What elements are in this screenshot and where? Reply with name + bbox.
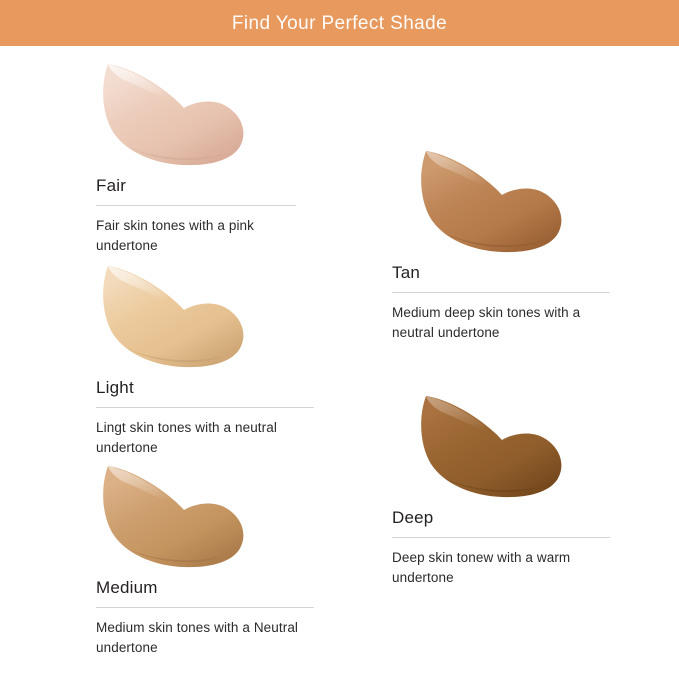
shade-card-tan[interactable]: Tan Medium deep skin tones with a neutra…: [392, 145, 622, 343]
shade-card-light[interactable]: Light Lingt skin tones with a neutral un…: [96, 260, 326, 458]
shade-divider-medium: [96, 607, 314, 608]
foundation-swatch-icon: [96, 58, 256, 170]
swatch-medium: [96, 460, 256, 572]
shade-description-deep: Deep skin tonew with a warm undertone: [392, 548, 614, 587]
shade-guide-grid: Fair Fair skin tones with a pink underto…: [0, 46, 679, 679]
shade-description-fair: Fair skin tones with a pink undertone: [96, 216, 318, 255]
swatch-deep: [414, 390, 574, 502]
swatch-light: [96, 260, 256, 372]
shade-divider-fair: [96, 205, 296, 206]
foundation-swatch-icon: [414, 145, 574, 257]
swatch-tan: [414, 145, 574, 257]
shade-card-medium[interactable]: Medium Medium skin tones with a Neutral …: [96, 460, 326, 658]
shade-divider-light: [96, 407, 314, 408]
shade-description-tan: Medium deep skin tones with a neutral un…: [392, 303, 614, 342]
shade-name-tan: Tan: [392, 263, 622, 283]
shade-card-deep[interactable]: Deep Deep skin tonew with a warm underto…: [392, 390, 622, 588]
shade-name-light: Light: [96, 378, 326, 398]
foundation-swatch-icon: [96, 460, 256, 572]
page-title: Find Your Perfect Shade: [232, 14, 447, 33]
swatch-fair: [96, 58, 256, 170]
foundation-swatch-icon: [414, 390, 574, 502]
foundation-swatch-icon: [96, 260, 256, 372]
shade-card-fair[interactable]: Fair Fair skin tones with a pink underto…: [96, 58, 326, 256]
shade-name-fair: Fair: [96, 176, 326, 196]
shade-name-medium: Medium: [96, 578, 326, 598]
header-banner: Find Your Perfect Shade: [0, 0, 679, 46]
shade-divider-tan: [392, 292, 610, 293]
shade-name-deep: Deep: [392, 508, 622, 528]
shade-divider-deep: [392, 537, 610, 538]
shade-description-light: Lingt skin tones with a neutral underton…: [96, 418, 318, 457]
shade-description-medium: Medium skin tones with a Neutral underto…: [96, 618, 318, 657]
